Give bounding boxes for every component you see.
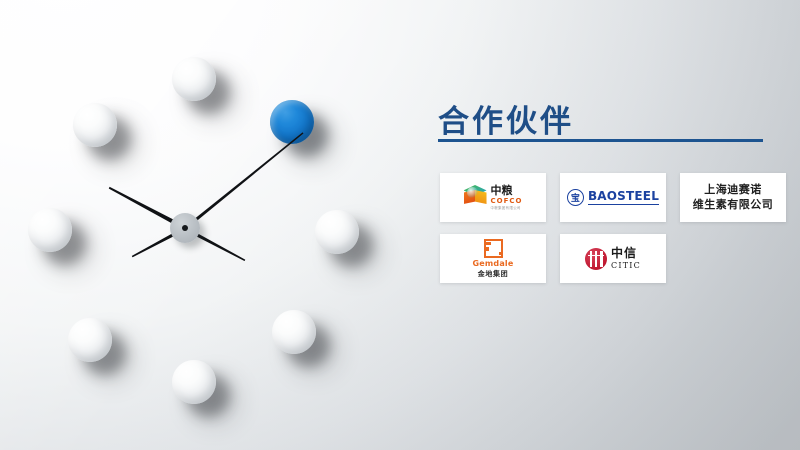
partner-card-citic[interactable]: 中信 CITIC [560, 234, 666, 283]
clock-marker-4 [272, 310, 316, 354]
clock-marker-3 [315, 210, 359, 254]
section-title-underline [438, 139, 763, 142]
baosteel-emblem-icon: 宝 [567, 189, 584, 206]
clock-marker-7 [68, 318, 112, 362]
section-title: 合作伙伴 [438, 96, 574, 141]
clock-marker-1-highlight [270, 100, 314, 144]
citic-cn-label: 中信 [611, 247, 641, 259]
wall-clock [0, 0, 400, 450]
cofco-tagline: 中粮集团有限公司 [491, 207, 523, 210]
cofco-en-label: COFCO [491, 198, 523, 205]
partner-card-baosteel[interactable]: 宝 BAOSTEEL [560, 173, 666, 222]
gemdale-cn-label: 金地集团 [478, 271, 508, 278]
partner-card-cofco[interactable]: 中粮 COFCO 中粮集团有限公司 [440, 173, 546, 222]
clock-center-hub [170, 213, 200, 243]
slide-canvas: 合作伙伴 中粮 COFCO 中粮集团有限公司 [0, 0, 800, 450]
baosteel-wordmark: BAOSTEEL [588, 190, 659, 205]
disano-line-1: 上海迪赛诺 [693, 183, 774, 198]
disano-line-2: 维生素有限公司 [693, 198, 774, 213]
partner-card-disano[interactable]: 上海迪赛诺 维生素有限公司 [680, 173, 786, 222]
citic-en-label: CITIC [611, 262, 641, 270]
clock-marker-9 [28, 208, 72, 252]
cofco-cube-icon [464, 185, 487, 210]
clock-marker-12 [172, 57, 216, 101]
partners-panel: 合作伙伴 中粮 COFCO 中粮集团有限公司 [420, 0, 800, 450]
clock-marker-6 [172, 360, 216, 404]
partner-logo-grid: 中粮 COFCO 中粮集团有限公司 宝 BAOSTEEL 上海迪赛诺 维生素有限… [440, 173, 786, 283]
citic-seal-icon [585, 248, 607, 270]
clock-marker-10 [73, 103, 117, 147]
clock-minute-hand [183, 130, 304, 230]
cofco-cn-label: 中粮 [491, 185, 523, 196]
partner-card-gemdale[interactable]: Gemdale 金地集团 [440, 234, 546, 283]
gemdale-en-label: Gemdale [472, 260, 513, 268]
gemdale-square-icon [484, 239, 503, 257]
